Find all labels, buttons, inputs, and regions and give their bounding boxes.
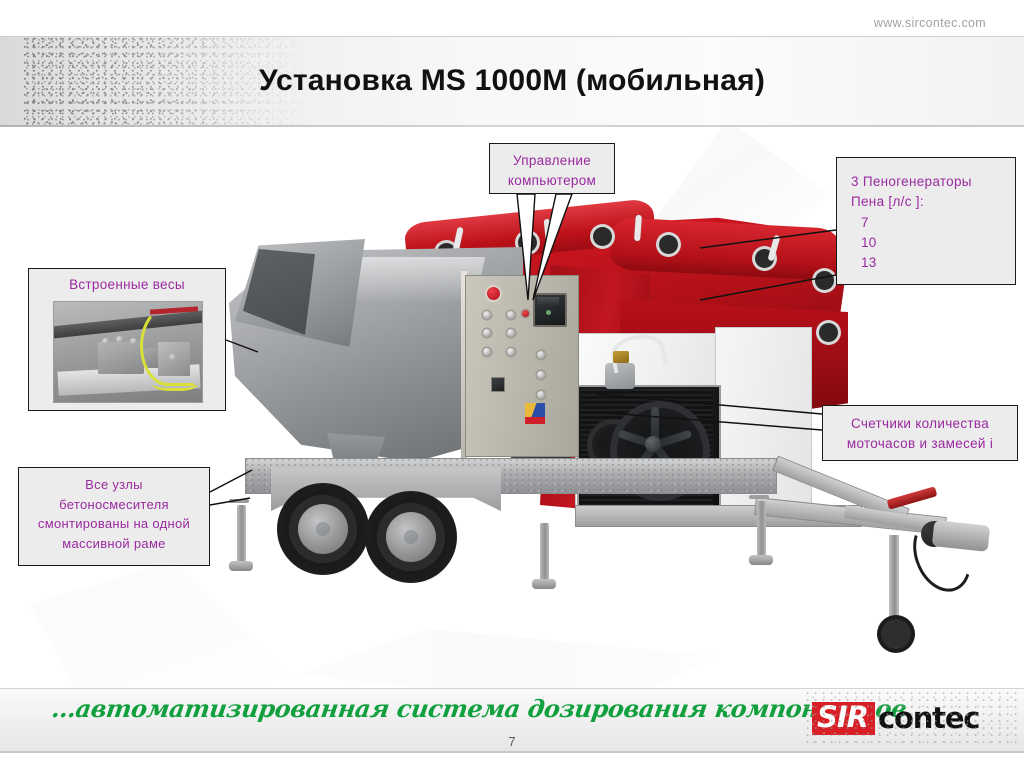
tarp-grommet <box>819 323 838 342</box>
callout-line: Счетчики количества <box>851 416 989 431</box>
fan-hub <box>645 436 661 452</box>
support-jack <box>757 501 766 559</box>
support-jack-foot <box>532 579 556 589</box>
foam-rate-value: 7 <box>851 213 1015 233</box>
header-divider-bottom <box>0 125 1024 127</box>
logo-wordmark: contec <box>875 704 979 733</box>
display-screen <box>537 297 559 306</box>
footer-tagline: ...автоматизированная система дозировани… <box>50 694 909 723</box>
cabinet-sticker <box>525 417 545 424</box>
callout-line: моточасов и замесей i <box>847 436 993 451</box>
control-push-button[interactable] <box>507 311 515 319</box>
callout-line: Пена [л/с ]: <box>851 192 1015 212</box>
control-push-button[interactable] <box>483 311 491 319</box>
footer-bottom-rule <box>0 751 1024 753</box>
control-push-button[interactable] <box>483 329 491 337</box>
slide-canvas: www.sircontec.com Установка MS 1000M (мо… <box>0 0 1024 768</box>
inset-load-cell <box>98 342 144 374</box>
brass-fitting <box>613 351 629 363</box>
machine-photo <box>215 205 915 675</box>
callout-counters[interactable]: Счетчики количества моточасов и замесей … <box>822 405 1018 461</box>
control-push-button[interactable] <box>537 351 545 359</box>
inset-bolt <box>130 338 137 345</box>
control-indicator-lamp[interactable] <box>522 310 529 317</box>
jack-crank-handle <box>749 495 769 499</box>
tarp-grommet <box>659 235 678 254</box>
callout-computer-control[interactable]: Управление компьютером <box>489 143 615 194</box>
tarp-grommet <box>815 271 834 290</box>
inset-bolt <box>116 336 123 343</box>
sircontec-logo[interactable]: SIR contec <box>812 697 979 739</box>
website-url: www.sircontec.com <box>874 16 986 30</box>
callout-line: Управление <box>513 153 591 168</box>
load-cell-inset-photo <box>53 301 203 403</box>
display-status-led <box>546 310 551 315</box>
handbrake-lever[interactable] <box>887 486 938 509</box>
foam-rate-value: 10 <box>851 233 1015 253</box>
callout-line: компьютером <box>508 173 596 188</box>
control-push-button[interactable] <box>537 391 545 399</box>
callout-line: Все узлы <box>85 477 143 492</box>
callout-title: Встроенные весы <box>69 277 185 292</box>
wheel-hub <box>316 522 330 536</box>
inset-yellow-cable <box>152 374 198 391</box>
jack-crank-handle <box>229 499 249 503</box>
wheel-hub <box>404 530 418 544</box>
support-jack <box>237 505 246 563</box>
control-push-button[interactable] <box>483 348 491 356</box>
control-push-button[interactable] <box>537 371 545 379</box>
cabinet-sticker <box>525 403 545 417</box>
callout-foam-generators[interactable]: 3 Пеногенераторы Пена [л/с ]: 7 10 13 <box>836 157 1016 285</box>
control-push-button[interactable] <box>507 348 515 356</box>
emergency-stop-button[interactable] <box>487 287 500 300</box>
inset-bolt <box>102 338 109 345</box>
logo-mark: SIR <box>812 702 875 735</box>
callout-line: массивной раме <box>62 536 165 551</box>
jockey-wheel-post <box>889 535 899 621</box>
callout-line: бетоносмесителя <box>59 497 169 512</box>
cabinet-main-switch[interactable] <box>491 377 505 392</box>
support-jack-foot <box>749 555 773 565</box>
tarp-grommet <box>593 227 612 246</box>
support-jack-foot <box>229 561 253 571</box>
page-title: Установка MS 1000M (мобильная) <box>0 64 1024 98</box>
callout-massive-frame[interactable]: Все узлы бетоносмесителя смонтированы на… <box>18 467 210 566</box>
jockey-wheel <box>877 615 915 653</box>
callout-line: 3 Пеногенераторы <box>851 172 1015 192</box>
foam-rate-value: 13 <box>851 253 1015 273</box>
control-push-button[interactable] <box>507 329 515 337</box>
callout-line: смонтированы на одной <box>38 516 190 531</box>
support-jack <box>540 523 549 581</box>
